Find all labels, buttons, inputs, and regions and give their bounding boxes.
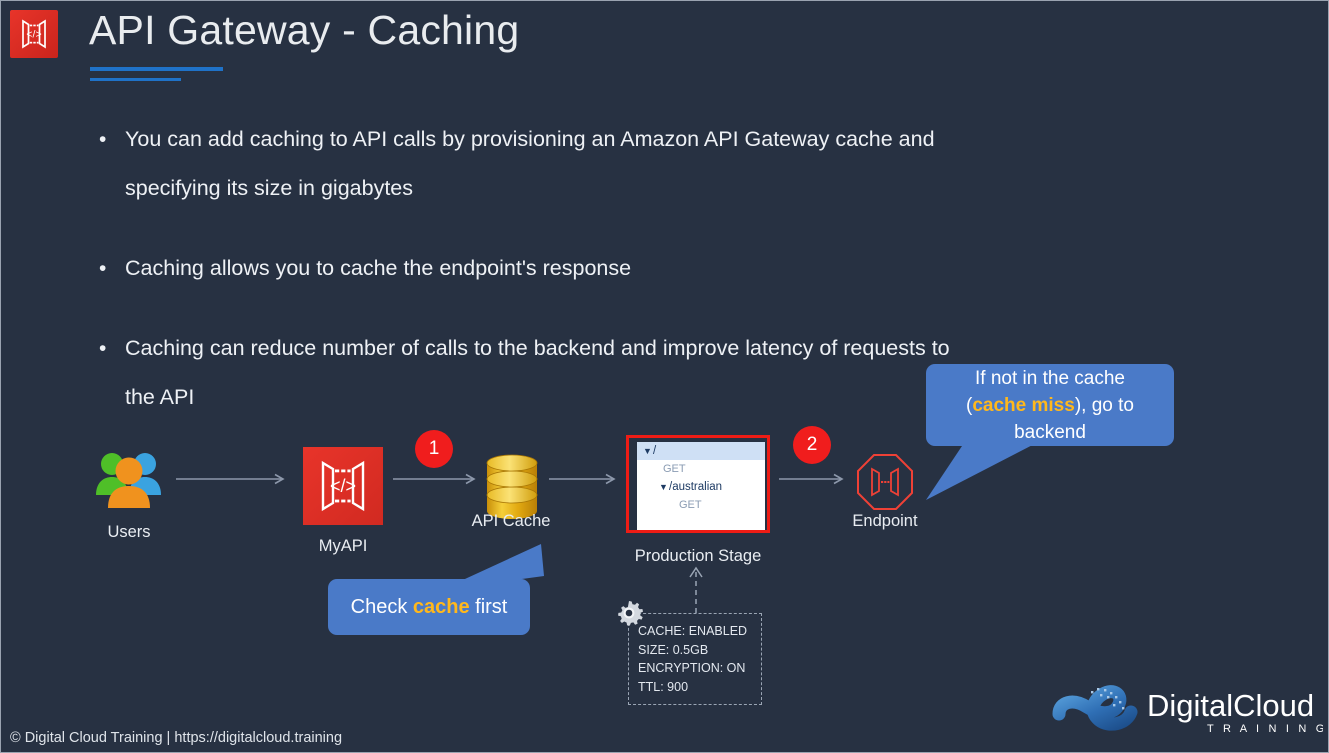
users-group-icon	[93, 448, 165, 510]
callout-line: If not in the cache	[926, 365, 1174, 392]
myapi-label: MyAPI	[293, 537, 393, 556]
chevron-down-icon[interactable]: ▼	[643, 442, 653, 460]
config-line: CACHE: ENABLED	[638, 622, 747, 641]
svg-text:</>: </>	[26, 29, 41, 41]
api-resource-tree[interactable]: ▼/ GET ▼/australian GET	[637, 442, 765, 530]
bullet-item: Caching allows you to cache the endpoint…	[95, 244, 955, 293]
arrow-stage-to-endpoint	[779, 473, 849, 485]
tree-row[interactable]: GET	[637, 460, 765, 478]
callout-text: backend	[1014, 422, 1086, 443]
title-underline-long	[90, 67, 223, 71]
digitalcloud-training-logo: DigitalCloud T R A I N I N G	[1047, 680, 1323, 736]
cache-miss-callout: If not in the cache (cache miss), go to …	[926, 364, 1174, 446]
myapi-gateway-icon: </>	[303, 447, 383, 525]
cache-config-text: CACHE: ENABLED SIZE: 0.5GB ENCRYPTION: O…	[638, 622, 747, 696]
tree-row[interactable]: GET	[637, 496, 765, 514]
tree-row[interactable]: ▼/	[637, 442, 765, 460]
config-to-stage-connector	[621, 561, 781, 619]
users-label: Users	[93, 523, 165, 542]
step-badge-1: 1	[415, 430, 453, 468]
config-line: TTL: 900	[638, 678, 747, 697]
callout-text: Check	[351, 596, 413, 618]
callout-highlight: cache	[413, 596, 470, 618]
bullet-item: Caching can reduce number of calls to th…	[95, 324, 955, 422]
endpoint-octagon-icon	[856, 453, 914, 511]
bullet-item: You can add caching to API calls by prov…	[95, 115, 955, 213]
config-line: ENCRYPTION: ON	[638, 659, 747, 678]
callout-highlight: cache miss	[972, 395, 1074, 416]
tree-row-label: GET	[663, 463, 686, 475]
bullet-list: You can add caching to API calls by prov…	[95, 115, 955, 422]
callout-text: first	[470, 596, 508, 618]
footer-copyright: © Digital Cloud Training | https://digit…	[10, 730, 342, 746]
database-cylinder-icon	[485, 453, 539, 519]
check-cache-callout: Check cache first	[328, 579, 530, 635]
page-title: API Gateway - Caching	[89, 7, 519, 54]
production-stage-panel[interactable]: ▼/ GET ▼/australian GET	[626, 435, 770, 533]
tree-row-label: /	[653, 445, 656, 457]
arrow-cache-to-stage	[549, 473, 621, 485]
slide-canvas: </> API Gateway - Caching You can add ca…	[0, 0, 1329, 753]
api-cache-label: API Cache	[459, 512, 563, 531]
config-line: SIZE: 0.5GB	[638, 641, 747, 660]
svg-text:DigitalCloud: DigitalCloud	[1147, 688, 1314, 723]
svg-text:</>: </>	[330, 476, 356, 496]
arrow-myapi-to-cache	[393, 473, 481, 485]
arrow-users-to-myapi	[176, 473, 291, 485]
svg-text:T R A I N I N G: T R A I N I N G	[1207, 723, 1323, 735]
cache-miss-callout-tail	[926, 438, 1056, 506]
step-badge-2: 2	[793, 426, 831, 464]
aws-api-gateway-icon: </>	[10, 10, 58, 58]
tree-row-label: GET	[679, 499, 702, 511]
endpoint-label: Endpoint	[835, 512, 935, 531]
callout-line: (cache miss), go to	[926, 392, 1174, 419]
callout-line: backend	[926, 419, 1174, 446]
chevron-down-icon[interactable]: ▼	[659, 478, 669, 496]
tree-row-label: /australian	[669, 481, 722, 493]
title-underline-short	[90, 78, 181, 81]
callout-text: ), go to	[1075, 395, 1134, 416]
tree-row[interactable]: ▼/australian	[637, 478, 765, 496]
callout-text: If not in the cache	[975, 368, 1125, 389]
